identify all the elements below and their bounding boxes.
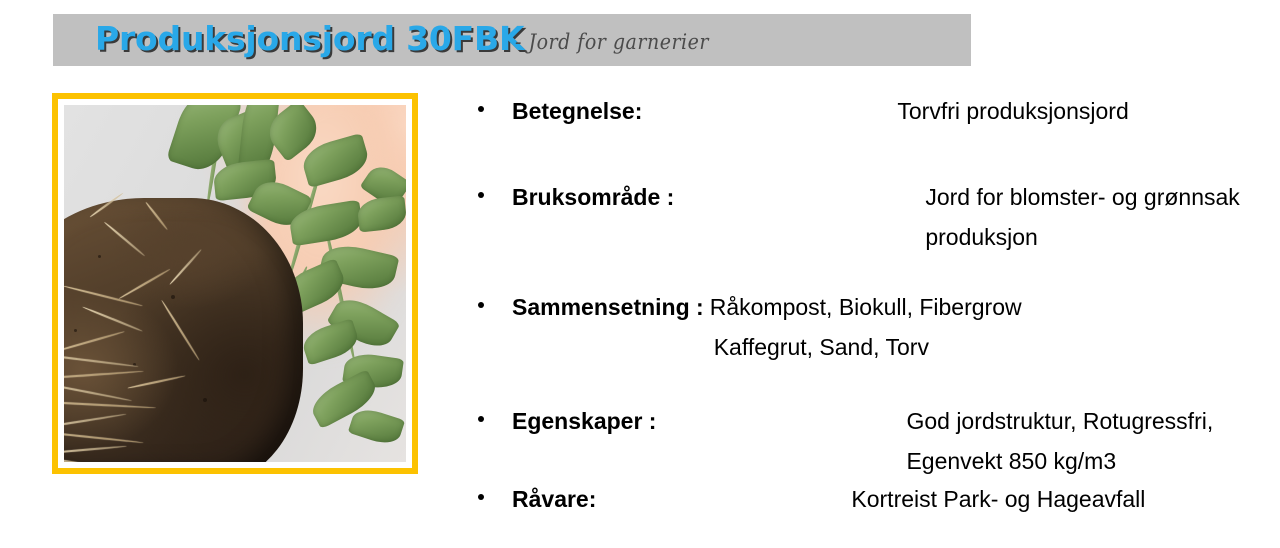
header-banner: Produksjonsjord 30FBK - Jord for garneri… <box>53 14 971 66</box>
spec-value: Kortreist Park- og Hageavfall <box>851 484 1145 514</box>
spec-value: Råkompost, Biokull, Fibergrow <box>710 292 1022 322</box>
spec-value: Jord for blomster- og grønnsak <box>925 182 1239 212</box>
spec-label: Sammensetning : <box>462 292 704 322</box>
spec-value: Torvfri produksjonsjord <box>897 96 1128 126</box>
bullet-icon <box>478 416 484 422</box>
bullet-icon <box>478 192 484 198</box>
soil-root-ball <box>64 198 303 462</box>
spec-row-betegnelse: Betegnelse: Torvfri produksjonsjord <box>462 96 1129 126</box>
spec-label: Betegnelse: <box>462 96 642 126</box>
spec-value-group: God jordstruktur, Rotugressfri, Egenvekt… <box>906 406 1213 476</box>
bullet-icon <box>478 106 484 112</box>
spec-value-group: Råkompost, Biokull, Fibergrow Kaffegrut,… <box>710 292 1022 362</box>
spec-value-group: Jord for blomster- og grønnsak produksjo… <box>925 182 1239 252</box>
product-photo-frame <box>52 93 418 474</box>
spec-value: God jordstruktur, Rotugressfri, <box>906 406 1213 436</box>
spec-value-continued: Kaffegrut, Sand, Torv <box>710 332 1022 362</box>
spec-row-egenskaper: Egenskaper : God jordstruktur, Rotugress… <box>462 406 1213 476</box>
product-photo <box>64 105 406 462</box>
page-subtitle: - Jord for garnerier <box>515 22 709 62</box>
spec-row-bruksomrade: Bruksområde : Jord for blomster- og grøn… <box>462 182 1240 252</box>
spec-row-sammensetning: Sammensetning : Råkompost, Biokull, Fibe… <box>462 292 1022 362</box>
bullet-icon <box>478 494 484 500</box>
spec-row-ravare: Råvare: Kortreist Park- og Hageavfall <box>462 484 1145 514</box>
spec-label: Egenskaper : <box>462 406 656 436</box>
spec-label: Bruksområde : <box>462 182 674 212</box>
spec-value-continued: produksjon <box>925 222 1239 252</box>
spec-value-continued: Egenvekt 850 kg/m3 <box>906 446 1213 476</box>
bullet-icon <box>478 302 484 308</box>
page-title: Produksjonsjord 30FBK <box>95 15 524 63</box>
